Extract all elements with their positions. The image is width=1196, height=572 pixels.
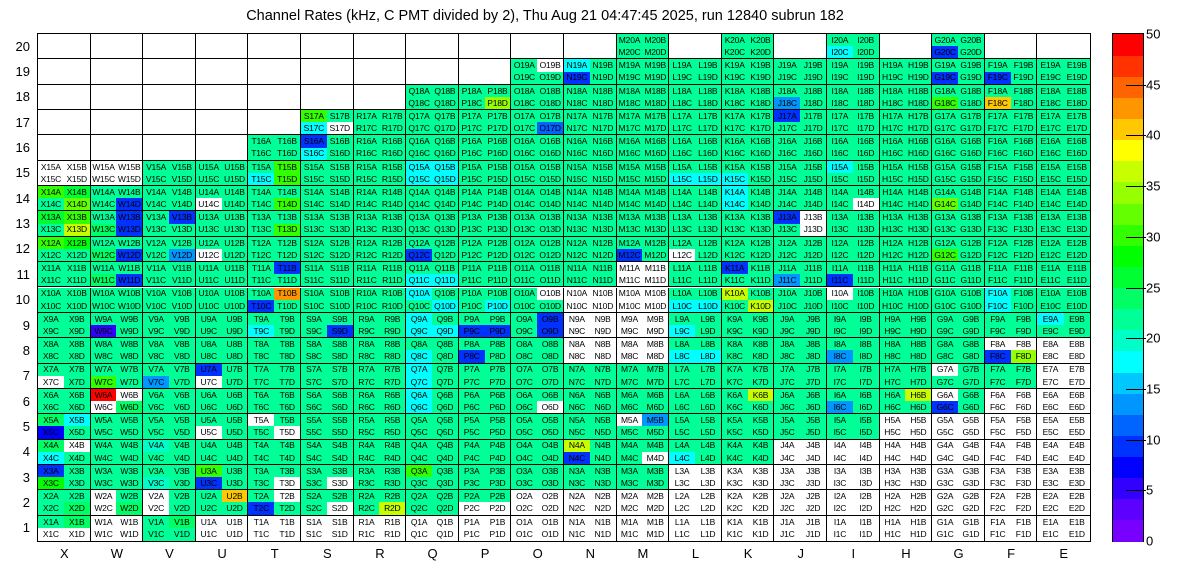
heatmap-subcell[interactable]: Q18B [432,85,458,97]
heatmap-subcell[interactable]: W6B [116,389,142,401]
heatmap-subcell[interactable]: W5B [116,414,142,426]
heatmap-subcell[interactable]: K14A [722,186,748,198]
heatmap-cell[interactable] [774,34,827,59]
heatmap-subcell[interactable]: P16C [459,148,485,160]
heatmap-subcell[interactable]: K18B [748,85,774,97]
heatmap-subcell[interactable]: L19A [669,59,695,71]
heatmap-subcell[interactable]: T2A [248,490,274,502]
heatmap-subcell[interactable]: I4A [827,440,853,452]
heatmap-subcell[interactable]: G15D [958,173,984,185]
heatmap-subcell[interactable]: O18A [511,85,537,97]
heatmap-subcell[interactable]: O9D [537,325,563,337]
heatmap-subcell[interactable]: Q1D [432,528,458,541]
heatmap-subcell[interactable]: S5B [327,414,353,426]
heatmap-cell[interactable]: T7AT7BT7CT7D [248,364,301,389]
heatmap-subcell[interactable]: S3C [301,477,327,489]
heatmap-subcell[interactable]: W15D [116,173,142,185]
heatmap-subcell[interactable]: K12B [748,237,774,249]
heatmap-cell[interactable]: N4AN4BN4CN4D [564,440,617,465]
heatmap-subcell[interactable]: I1A [827,516,853,529]
heatmap-subcell[interactable]: J8D [800,350,826,362]
heatmap-subcell[interactable]: G18B [958,85,984,97]
heatmap-cell[interactable]: X2AX2BX2CX2D [38,490,91,515]
heatmap-subcell[interactable]: J16B [800,135,826,147]
heatmap-subcell[interactable]: I14A [827,186,853,198]
heatmap-subcell[interactable]: E6D [1064,401,1090,413]
heatmap-subcell[interactable]: L4B [695,440,721,452]
heatmap-subcell[interactable]: P6B [485,389,511,401]
heatmap-subcell[interactable]: M5D [642,426,668,438]
heatmap-subcell[interactable]: U13A [196,211,222,223]
heatmap-subcell[interactable]: H9C [880,325,906,337]
heatmap-subcell[interactable]: T11A [248,262,274,274]
heatmap-subcell[interactable]: P1A [459,516,485,529]
heatmap-subcell[interactable]: O7C [511,376,537,388]
heatmap-cell[interactable]: R2AR2BR2CR2D [354,490,407,515]
heatmap-subcell[interactable]: I5B [853,414,879,426]
heatmap-cell[interactable]: L19AL19BL19CL19D [669,59,722,84]
heatmap-subcell[interactable]: G5B [958,414,984,426]
heatmap-subcell[interactable]: Q10C [406,300,432,312]
heatmap-subcell[interactable]: N13D [590,224,616,236]
heatmap-cell[interactable]: T3AT3BT3CT3D [248,465,301,490]
heatmap-cell[interactable]: V12AV12BV12CV12D [143,237,196,262]
heatmap-subcell[interactable]: O15A [511,161,537,173]
heatmap-subcell[interactable]: H19C [880,72,906,84]
heatmap-subcell[interactable]: O14C [511,198,537,210]
heatmap-cell[interactable] [143,34,196,59]
heatmap-subcell[interactable]: I5A [827,414,853,426]
heatmap-subcell[interactable]: R16B [379,135,405,147]
heatmap-subcell[interactable]: Q4B [432,440,458,452]
heatmap-subcell[interactable]: W11B [116,262,142,274]
heatmap-cell[interactable]: H12AH12BH12CH12D [880,237,933,262]
heatmap-cell[interactable]: K5AK5BK5CK5D [722,414,775,439]
heatmap-cell[interactable]: N18AN18BN18CN18D [564,85,617,110]
heatmap-cell[interactable]: U10AU10BU10CU10D [196,288,249,313]
heatmap-subcell[interactable]: G5D [958,426,984,438]
heatmap-subcell[interactable]: Q5B [432,414,458,426]
heatmap-subcell[interactable]: F2A [985,490,1011,502]
heatmap-subcell[interactable]: T5D [274,426,300,438]
heatmap-subcell[interactable]: P10C [459,300,485,312]
heatmap-subcell[interactable]: I15D [853,173,879,185]
heatmap-subcell[interactable]: G11B [958,262,984,274]
heatmap-subcell[interactable]: T16D [274,148,300,160]
heatmap-subcell[interactable]: K9A [722,313,748,325]
heatmap-subcell[interactable]: I18B [853,85,879,97]
heatmap-cell[interactable]: N12AN12BN12CN12D [564,237,617,262]
heatmap-subcell[interactable]: W12B [116,237,142,249]
heatmap-subcell[interactable]: T4D [274,452,300,464]
heatmap-cell[interactable]: I20AI20BI20CI20D [827,34,880,59]
heatmap-cell[interactable]: O15AO15BO15CO15D [511,161,564,186]
heatmap-subcell[interactable]: S11C [301,274,327,286]
heatmap-subcell[interactable]: W6C [91,401,117,413]
heatmap-cell[interactable]: I19AI19BI19CI19D [827,59,880,84]
heatmap-subcell[interactable]: E8B [1064,338,1090,350]
heatmap-subcell[interactable]: I13D [853,224,879,236]
heatmap-subcell[interactable]: G6D [958,401,984,413]
heatmap-subcell[interactable]: H8C [880,350,906,362]
heatmap-subcell[interactable]: M9A [617,313,643,325]
heatmap-cell[interactable]: I5AI5BI5CI5D [827,414,880,439]
heatmap-cell[interactable]: J17AJ17BJ17CJ17D [774,110,827,135]
heatmap-cell[interactable]: G7AG7BG7CG7D [932,364,985,389]
heatmap-subcell[interactable]: E13C [1037,224,1063,236]
heatmap-subcell[interactable]: E16D [1064,148,1090,160]
heatmap-subcell[interactable]: I8B [853,338,879,350]
heatmap-subcell[interactable]: N12D [590,249,616,261]
heatmap-subcell[interactable]: R17A [354,110,380,122]
heatmap-subcell[interactable]: U7B [222,364,248,376]
heatmap-subcell[interactable]: O14A [511,186,537,198]
heatmap-cell[interactable]: W2AW2BW2CW2D [91,490,144,515]
heatmap-subcell[interactable]: G7D [958,376,984,388]
heatmap-subcell[interactable]: T13D [274,224,300,236]
heatmap-subcell[interactable]: N17D [590,122,616,134]
heatmap-subcell[interactable]: J4B [800,440,826,452]
heatmap-subcell[interactable]: N12A [564,237,590,249]
heatmap-subcell[interactable]: N2C [564,502,590,514]
heatmap-subcell[interactable]: F16C [985,148,1011,160]
heatmap-subcell[interactable]: V14D [169,198,195,210]
heatmap-subcell[interactable]: F19B [1011,59,1037,71]
heatmap-subcell[interactable]: H18A [880,85,906,97]
heatmap-subcell[interactable]: S15B [327,161,353,173]
heatmap-subcell[interactable]: N11B [590,262,616,274]
heatmap-subcell[interactable]: J19C [774,72,800,84]
heatmap-cell[interactable]: I10AI10BI10CI10D [827,288,880,313]
heatmap-subcell[interactable]: L3A [669,465,695,477]
heatmap-subcell[interactable]: O13C [511,224,537,236]
heatmap-cell[interactable]: S9AS9BS9CS9D [301,313,354,338]
heatmap-subcell[interactable]: L7B [695,364,721,376]
heatmap-cell[interactable]: H5AH5BH5CH5D [880,414,933,439]
heatmap-subcell[interactable]: Q18C [406,97,432,109]
heatmap-subcell[interactable]: H19B [905,59,931,71]
heatmap-subcell[interactable]: H1D [905,528,931,541]
heatmap-subcell[interactable]: R9B [379,313,405,325]
heatmap-subcell[interactable]: H18B [905,85,931,97]
heatmap-cell[interactable]: Q14AQ14BQ14CQ14D [406,186,459,211]
heatmap-subcell[interactable]: O1B [537,516,563,529]
heatmap-cell[interactable]: W10AW10BW10CW10D [91,288,144,313]
heatmap-subcell[interactable]: O1A [511,516,537,529]
heatmap-cell[interactable]: S10AS10BS10CS10D [301,288,354,313]
heatmap-subcell[interactable]: N2D [590,502,616,514]
heatmap-cell[interactable]: H6AH6BH6CH6D [880,389,933,414]
heatmap-subcell[interactable]: X4B [64,440,90,452]
heatmap-subcell[interactable]: N14A [564,186,590,198]
heatmap-subcell[interactable]: K3D [748,477,774,489]
heatmap-cell[interactable]: U2AU2BU2CU2D [196,490,249,515]
heatmap-subcell[interactable]: R2D [379,502,405,514]
heatmap-subcell[interactable]: P13C [459,224,485,236]
heatmap-subcell[interactable]: P15A [459,161,485,173]
heatmap-subcell[interactable]: E2D [1064,502,1090,514]
heatmap-subcell[interactable]: H10C [880,300,906,312]
heatmap-subcell[interactable]: F4B [1011,440,1037,452]
heatmap-subcell[interactable]: L15B [695,161,721,173]
heatmap-subcell[interactable]: J14D [800,198,826,210]
heatmap-subcell[interactable]: J18B [800,85,826,97]
heatmap-subcell[interactable]: K17D [748,122,774,134]
heatmap-subcell[interactable]: O7A [511,364,537,376]
heatmap-subcell[interactable]: T7B [274,364,300,376]
heatmap-subcell[interactable]: I20D [853,46,879,58]
heatmap-subcell[interactable]: U7C [196,376,222,388]
heatmap-subcell[interactable]: J11A [774,262,800,274]
heatmap-subcell[interactable]: K2A [722,490,748,502]
heatmap-subcell[interactable]: R17D [379,122,405,134]
heatmap-subcell[interactable]: S12C [301,249,327,261]
heatmap-subcell[interactable]: W10C [91,300,117,312]
heatmap-subcell[interactable]: X1D [64,528,90,541]
heatmap-subcell[interactable]: N4A [564,440,590,452]
heatmap-cell[interactable]: P13AP13BP13CP13D [459,211,512,236]
heatmap-subcell[interactable]: R8A [354,338,380,350]
heatmap-subcell[interactable]: M18C [617,97,643,109]
heatmap-subcell[interactable]: M5C [617,426,643,438]
heatmap-cell[interactable]: L12AL12BL12CL12D [669,237,722,262]
heatmap-subcell[interactable]: O1D [537,528,563,541]
heatmap-subcell[interactable]: O17D [537,122,563,134]
heatmap-subcell[interactable]: M5A [617,414,643,426]
heatmap-subcell[interactable]: W1D [116,528,142,541]
heatmap-subcell[interactable]: S3D [327,477,353,489]
heatmap-subcell[interactable]: X1B [64,516,90,529]
heatmap-subcell[interactable]: R1C [354,528,380,541]
heatmap-subcell[interactable]: P5B [485,414,511,426]
heatmap-cell[interactable] [38,59,91,84]
heatmap-subcell[interactable]: E2C [1037,502,1063,514]
heatmap-subcell[interactable]: T6A [248,389,274,401]
heatmap-subcell[interactable]: K16D [748,148,774,160]
heatmap-subcell[interactable]: P18C [459,97,485,109]
heatmap-subcell[interactable]: X9D [64,325,90,337]
heatmap-cell[interactable]: H1AH1BH1CH1D [880,516,933,541]
heatmap-cell[interactable]: K2AK2BK2CK2D [722,490,775,515]
heatmap-subcell[interactable]: J15C [774,173,800,185]
heatmap-subcell[interactable]: W1A [91,516,117,529]
heatmap-subcell[interactable]: O8C [511,350,537,362]
heatmap-cell[interactable]: V6AV6BV6CV6D [143,389,196,414]
heatmap-subcell[interactable]: G6B [958,389,984,401]
heatmap-subcell[interactable]: H6D [905,401,931,413]
heatmap-subcell[interactable]: P5A [459,414,485,426]
heatmap-subcell[interactable]: S15D [327,173,353,185]
heatmap-subcell[interactable]: V5D [169,426,195,438]
heatmap-cell[interactable]: S13AS13BS13CS13D [301,211,354,236]
heatmap-subcell[interactable]: E18B [1064,85,1090,97]
heatmap-subcell[interactable]: N10A [564,288,590,300]
heatmap-subcell[interactable]: L14D [695,198,721,210]
heatmap-subcell[interactable]: L8A [669,338,695,350]
heatmap-cell[interactable]: G9AG9BG9CG9D [932,313,985,338]
heatmap-cell[interactable]: L10AL10BL10CL10D [669,288,722,313]
heatmap-cell[interactable] [301,85,354,110]
heatmap-subcell[interactable]: V1B [169,516,195,529]
heatmap-subcell[interactable]: I2B [853,490,879,502]
heatmap-cell[interactable]: E13AE13BE13CE13D [1037,211,1090,236]
heatmap-subcell[interactable]: R7D [379,376,405,388]
heatmap-subcell[interactable]: E11B [1064,262,1090,274]
heatmap-subcell[interactable]: H7B [905,364,931,376]
heatmap-subcell[interactable]: K20B [748,34,774,46]
heatmap-cell[interactable]: N16AN16BN16CN16D [564,135,617,160]
heatmap-subcell[interactable]: W4C [91,452,117,464]
heatmap-subcell[interactable]: V15B [169,161,195,173]
heatmap-subcell[interactable]: W10B [116,288,142,300]
heatmap-subcell[interactable]: L4A [669,440,695,452]
heatmap-subcell[interactable]: J13D [800,224,826,236]
heatmap-cell[interactable]: Q17AQ17BQ17CQ17D [406,110,459,135]
heatmap-subcell[interactable]: P3D [485,477,511,489]
heatmap-subcell[interactable]: H9B [905,313,931,325]
heatmap-cell[interactable]: E6AE6BE6CE6D [1037,389,1090,414]
heatmap-subcell[interactable]: P1D [485,528,511,541]
heatmap-cell[interactable]: H19AH19BH19CH19D [880,59,933,84]
heatmap-subcell[interactable]: S9B [327,313,353,325]
heatmap-subcell[interactable]: N5A [564,414,590,426]
heatmap-subcell[interactable]: N4D [590,452,616,464]
heatmap-cell[interactable]: M14AM14BM14CM14D [617,186,670,211]
heatmap-subcell[interactable]: J1D [800,528,826,541]
heatmap-subcell[interactable]: N4B [590,440,616,452]
heatmap-subcell[interactable]: I10A [827,288,853,300]
heatmap-cell[interactable]: P10AP10BP10CP10D [459,288,512,313]
heatmap-subcell[interactable]: F14D [1011,198,1037,210]
heatmap-cell[interactable]: M17AM17BM17CM17D [617,110,670,135]
heatmap-subcell[interactable]: U12D [222,249,248,261]
heatmap-cell[interactable]: G19AG19BG19CG19D [932,59,985,84]
heatmap-subcell[interactable]: G19B [958,59,984,71]
heatmap-subcell[interactable]: T14A [248,186,274,198]
heatmap-subcell[interactable]: G18C [932,97,958,109]
heatmap-subcell[interactable]: Q16D [432,148,458,160]
heatmap-subcell[interactable]: I5C [827,426,853,438]
heatmap-subcell[interactable]: L7A [669,364,695,376]
heatmap-subcell[interactable]: F11C [985,274,1011,286]
heatmap-subcell[interactable]: X11C [38,274,64,286]
heatmap-cell[interactable]: S1AS1BS1CS1D [301,516,354,541]
heatmap-subcell[interactable]: S17B [327,110,353,122]
heatmap-subcell[interactable]: E19B [1064,59,1090,71]
heatmap-subcell[interactable]: V6D [169,401,195,413]
heatmap-subcell[interactable]: M10C [617,300,643,312]
heatmap-subcell[interactable]: Q6D [432,401,458,413]
heatmap-cell[interactable]: M12AM12BM12CM12D [617,237,670,262]
heatmap-subcell[interactable]: Q16C [406,148,432,160]
heatmap-subcell[interactable]: I18D [853,97,879,109]
heatmap-subcell[interactable]: H3B [905,465,931,477]
heatmap-subcell[interactable]: Q8C [406,350,432,362]
heatmap-subcell[interactable]: K4A [722,440,748,452]
heatmap-subcell[interactable]: E7C [1037,376,1063,388]
heatmap-subcell[interactable]: Q7C [406,376,432,388]
heatmap-cell[interactable]: G16AG16BG16CG16D [932,135,985,160]
heatmap-cell[interactable]: F9AF9BF9CF9D [985,313,1038,338]
heatmap-subcell[interactable]: E13D [1064,224,1090,236]
heatmap-subcell[interactable]: F8D [1011,350,1037,362]
heatmap-subcell[interactable]: X12C [38,249,64,261]
heatmap-subcell[interactable]: U1A [196,516,222,529]
heatmap-subcell[interactable]: P17B [485,110,511,122]
heatmap-subcell[interactable]: I18A [827,85,853,97]
heatmap-subcell[interactable]: I14D [853,198,879,210]
heatmap-subcell[interactable]: U11C [196,274,222,286]
heatmap-subcell[interactable]: I3B [853,465,879,477]
heatmap-cell[interactable]: R11AR11BR11CR11D [354,262,407,287]
heatmap-subcell[interactable]: L17C [669,122,695,134]
heatmap-subcell[interactable]: N4C [564,452,590,464]
heatmap-subcell[interactable]: O2D [537,502,563,514]
heatmap-subcell[interactable]: U11A [196,262,222,274]
heatmap-subcell[interactable]: R6A [354,389,380,401]
heatmap-subcell[interactable]: K7C [722,376,748,388]
heatmap-subcell[interactable]: H5D [905,426,931,438]
heatmap-subcell[interactable]: M9C [617,325,643,337]
heatmap-subcell[interactable]: S3A [301,465,327,477]
heatmap-subcell[interactable]: T9A [248,313,274,325]
heatmap-subcell[interactable]: W14C [91,198,117,210]
heatmap-subcell[interactable]: S12B [327,237,353,249]
heatmap-subcell[interactable]: H3D [905,477,931,489]
heatmap-subcell[interactable]: M1B [642,516,668,529]
heatmap-subcell[interactable]: P18A [459,85,485,97]
heatmap-subcell[interactable]: S7C [301,376,327,388]
heatmap-subcell[interactable]: E13B [1064,211,1090,223]
heatmap-subcell[interactable]: I19D [853,72,879,84]
heatmap-subcell[interactable]: O2C [511,502,537,514]
heatmap-cell[interactable]: M4AM4BM4CM4D [617,440,670,465]
heatmap-subcell[interactable]: U14A [196,186,222,198]
heatmap-subcell[interactable]: H7A [880,364,906,376]
heatmap-subcell[interactable]: M15C [617,173,643,185]
heatmap-subcell[interactable]: G6C [932,401,958,413]
heatmap-subcell[interactable]: E17A [1037,110,1063,122]
heatmap-subcell[interactable]: R10A [354,288,380,300]
heatmap-subcell[interactable]: H8D [905,350,931,362]
heatmap-cell[interactable]: G1AG1BG1CG1D [932,516,985,541]
heatmap-subcell[interactable]: P10B [485,288,511,300]
heatmap-subcell[interactable]: G11D [958,274,984,286]
heatmap-subcell[interactable]: P16B [485,135,511,147]
heatmap-subcell[interactable]: H11A [880,262,906,274]
heatmap-subcell[interactable]: M1D [642,528,668,541]
heatmap-subcell[interactable]: I17D [853,122,879,134]
heatmap-subcell[interactable]: Q18A [406,85,432,97]
heatmap-subcell[interactable]: Q17D [432,122,458,134]
heatmap-cell[interactable]: H11AH11BH11CH11D [880,262,933,287]
heatmap-subcell[interactable]: S9A [301,313,327,325]
heatmap-cell[interactable]: W6AW6BW6CW6D [91,389,144,414]
heatmap-subcell[interactable]: S1D [327,528,353,541]
heatmap-subcell[interactable]: Q12D [432,249,458,261]
heatmap-subcell[interactable]: I3C [827,477,853,489]
heatmap-cell[interactable]: V10AV10BV10CV10D [143,288,196,313]
heatmap-subcell[interactable]: X7A [38,364,64,376]
heatmap-subcell[interactable]: J11B [800,262,826,274]
heatmap-cell[interactable]: N9AN9BN9CN9D [564,313,617,338]
heatmap-subcell[interactable]: I17A [827,110,853,122]
heatmap-subcell[interactable]: K9B [748,313,774,325]
heatmap-subcell[interactable]: V1D [169,528,195,541]
heatmap-subcell[interactable]: V3B [169,465,195,477]
heatmap-subcell[interactable]: G10D [958,300,984,312]
heatmap-cell[interactable]: K10AK10BK10CK10D [722,288,775,313]
